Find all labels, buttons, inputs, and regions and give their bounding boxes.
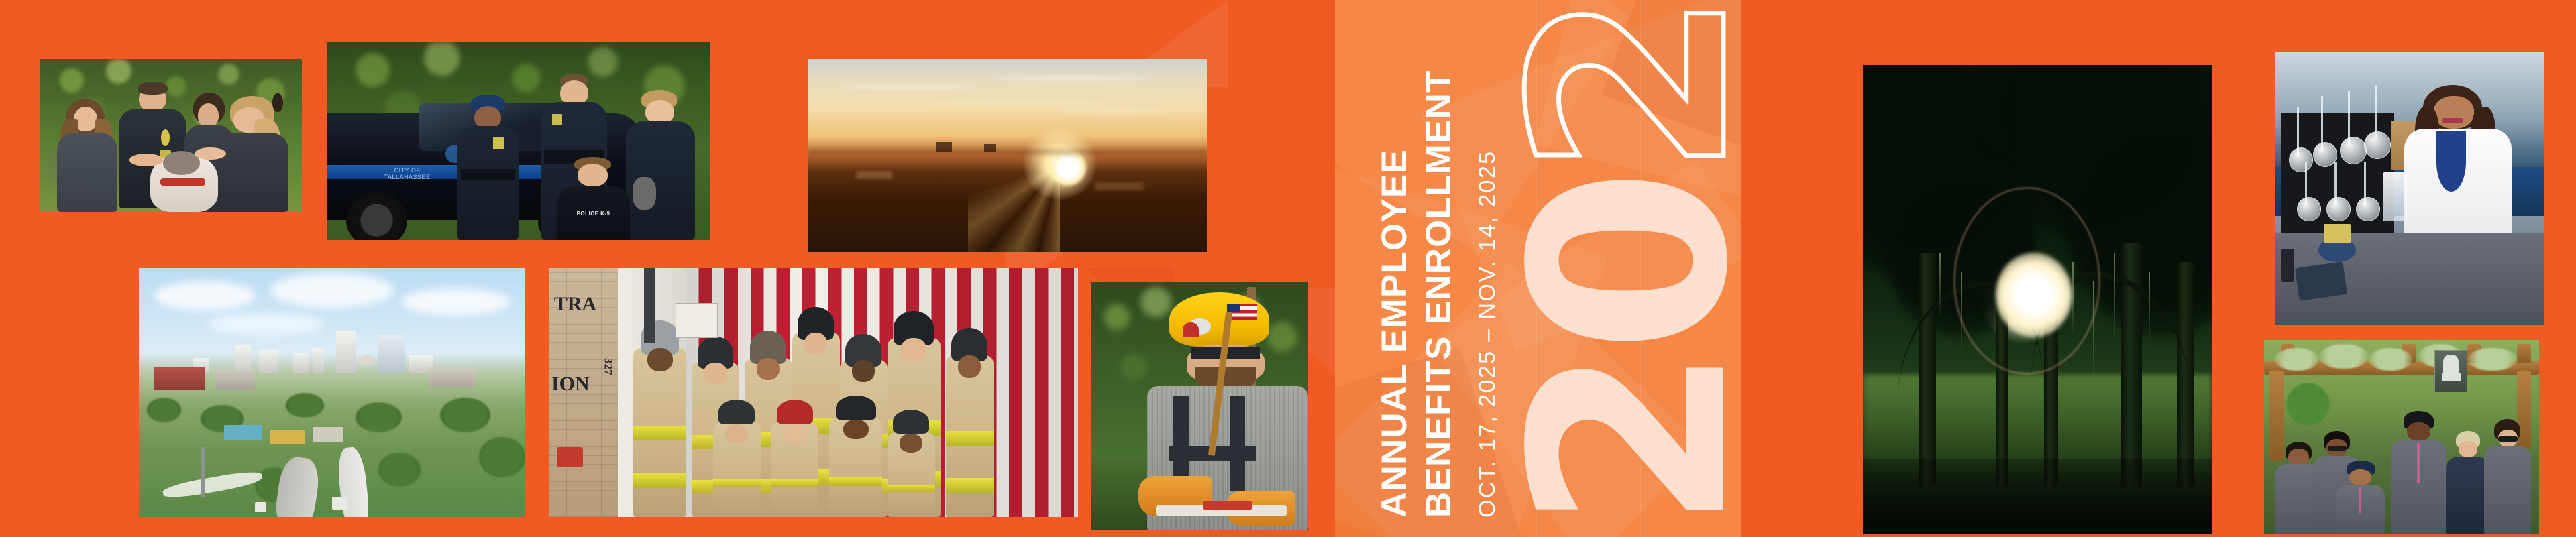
photo-live-oak-allee	[1863, 65, 2212, 534]
enrollment-date-range: OCT. 17, 2025 – NOV. 14, 2025	[1476, 150, 1499, 518]
photo-firefighters-flag: TRA ION 327	[549, 268, 1078, 517]
photo-lab-chemist	[2275, 52, 2544, 325]
headline-line-1: ANNUAL EMPLOYEE	[1377, 149, 1412, 518]
facet-seam-line	[1536, 0, 1537, 537]
station-sign-text: ION	[551, 373, 590, 396]
photo-police-officers-cruiser: CITY OF TALLAHASSEE	[327, 42, 710, 240]
photo-sunset-treeline	[808, 59, 1207, 252]
photo-animal-control-dog	[40, 59, 302, 212]
headline-line-2: BENEFITS ENROLLMENT	[1421, 70, 1456, 518]
police-k9-vest-text: POLICE K-9	[563, 211, 624, 217]
facet-seam-line	[1640, 0, 1641, 537]
benefits-enrollment-banner: CITY OF TALLAHASSEE	[0, 0, 2576, 537]
photo-utility-lineworker	[1091, 282, 1308, 530]
station-number: 327	[602, 358, 615, 375]
photo-volunteer-group-pergola	[2264, 340, 2539, 534]
vehicle-decal-text: CITY OF TALLAHASSEE	[365, 168, 449, 181]
station-sign-text: TRA	[554, 293, 596, 316]
photo-downtown-skyline-park	[139, 268, 525, 517]
